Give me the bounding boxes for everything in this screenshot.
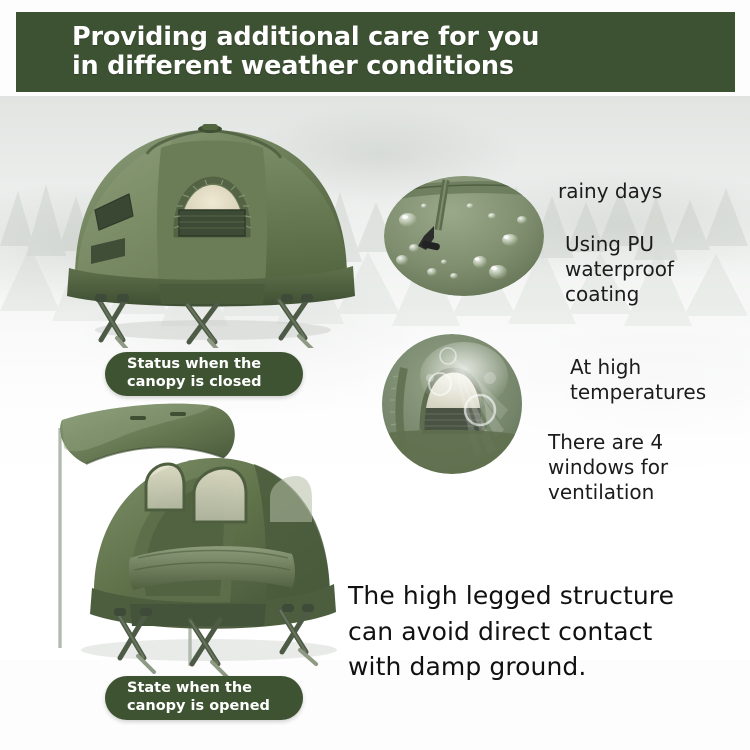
header-banner: Providing additional care for you in dif… [16, 12, 735, 92]
photo-tent-closed [55, 118, 365, 348]
callout-high-legged-structure: The high legged structure can avoid dire… [348, 578, 674, 685]
photo-tent-open [34, 398, 364, 683]
badge-canopy-closed-label: Status when the canopy is closed [127, 356, 262, 390]
infographic-page: Providing additional care for you in dif… [0, 0, 750, 750]
callout-ventilation-windows: There are 4 windows for ventilation [548, 430, 668, 504]
badge-canopy-opened-label: State when the canopy is opened [127, 680, 270, 714]
page-title: Providing additional care for you in dif… [72, 23, 539, 80]
callout-high-temperatures: At high temperatures [570, 355, 706, 405]
detail-circle-rain-droplets [384, 176, 544, 296]
callout-pu-coating: Using PU waterproof coating [565, 232, 674, 306]
badge-canopy-opened: State when the canopy is opened [105, 676, 303, 720]
callout-rainy-days: rainy days [558, 179, 662, 203]
badge-canopy-closed: Status when the canopy is closed [105, 352, 303, 396]
detail-circle-mesh-window [378, 334, 526, 474]
